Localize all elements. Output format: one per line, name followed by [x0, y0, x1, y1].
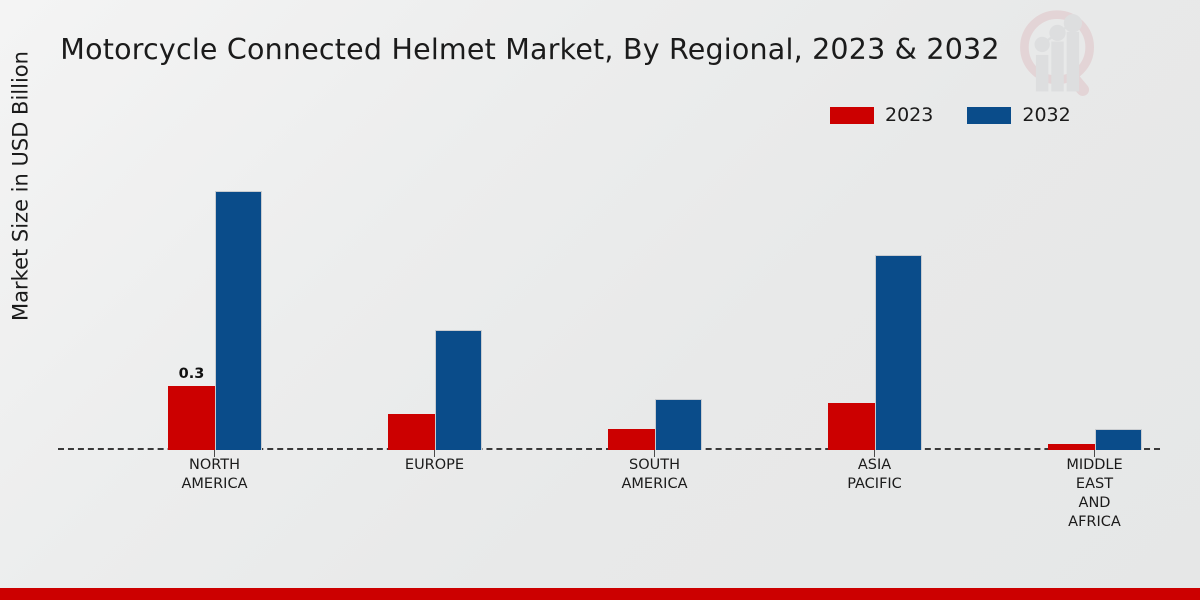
- plot-area: 0.3NORTHAMERICAEUROPESOUTHAMERICAASIAPAC…: [58, 150, 1160, 450]
- x-axis-category-label: EUROPE: [327, 456, 542, 475]
- category-label-line: EAST: [987, 475, 1200, 494]
- bar-2023-3[interactable]: [608, 429, 655, 450]
- y-axis-title: Market Size in USD Billion: [9, 14, 33, 359]
- legend-swatch-2032: [967, 107, 1011, 124]
- category-label-line: AMERICA: [547, 475, 762, 494]
- category-group: EUROPE: [337, 150, 533, 450]
- legend-item-2023[interactable]: 2023: [830, 104, 933, 126]
- chart-figure: Motorcycle Connected Helmet Market, By R…: [0, 0, 1200, 600]
- bar-2032-2[interactable]: [435, 330, 482, 450]
- legend-swatch-2023: [830, 107, 874, 124]
- bar-value-label: 0.3: [168, 366, 215, 382]
- chart-legend: 2023 2032: [830, 104, 1071, 126]
- x-axis-category-label: SOUTHAMERICA: [547, 456, 762, 494]
- category-group: 0.3NORTHAMERICA: [117, 150, 313, 450]
- category-label-line: ASIA: [767, 456, 982, 475]
- x-axis-category-label: MIDDLEEASTANDAFRICA: [987, 456, 1200, 532]
- category-label-line: AMERICA: [107, 475, 322, 494]
- bar-2023-1[interactable]: [168, 386, 215, 450]
- bar-2032-4[interactable]: [875, 255, 922, 450]
- bar-2023-2[interactable]: [388, 414, 435, 450]
- x-axis-category-label: NORTHAMERICA: [107, 456, 322, 494]
- bar-2023-5[interactable]: [1048, 444, 1095, 450]
- chart-title: Motorcycle Connected Helmet Market, By R…: [0, 33, 1060, 66]
- legend-item-2032[interactable]: 2032: [967, 104, 1070, 126]
- category-group: ASIAPACIFIC: [777, 150, 973, 450]
- bar-2032-5[interactable]: [1095, 429, 1142, 450]
- category-label-line: AFRICA: [987, 513, 1200, 532]
- category-label-line: EUROPE: [327, 456, 542, 475]
- category-label-line: MIDDLE: [987, 456, 1200, 475]
- category-label-line: NORTH: [107, 456, 322, 475]
- legend-label-2023: 2023: [885, 104, 933, 126]
- bar-2032-1[interactable]: [215, 191, 262, 450]
- x-axis-category-label: ASIAPACIFIC: [767, 456, 982, 494]
- category-group: SOUTHAMERICA: [557, 150, 753, 450]
- category-label-line: SOUTH: [547, 456, 762, 475]
- bar-2023-4[interactable]: [828, 403, 875, 450]
- category-label-line: AND: [987, 494, 1200, 513]
- footer-accent-band: [0, 588, 1200, 600]
- category-label-line: PACIFIC: [767, 475, 982, 494]
- category-group: MIDDLEEASTANDAFRICA: [997, 150, 1193, 450]
- legend-label-2032: 2032: [1022, 104, 1070, 126]
- bar-2032-3[interactable]: [655, 399, 702, 450]
